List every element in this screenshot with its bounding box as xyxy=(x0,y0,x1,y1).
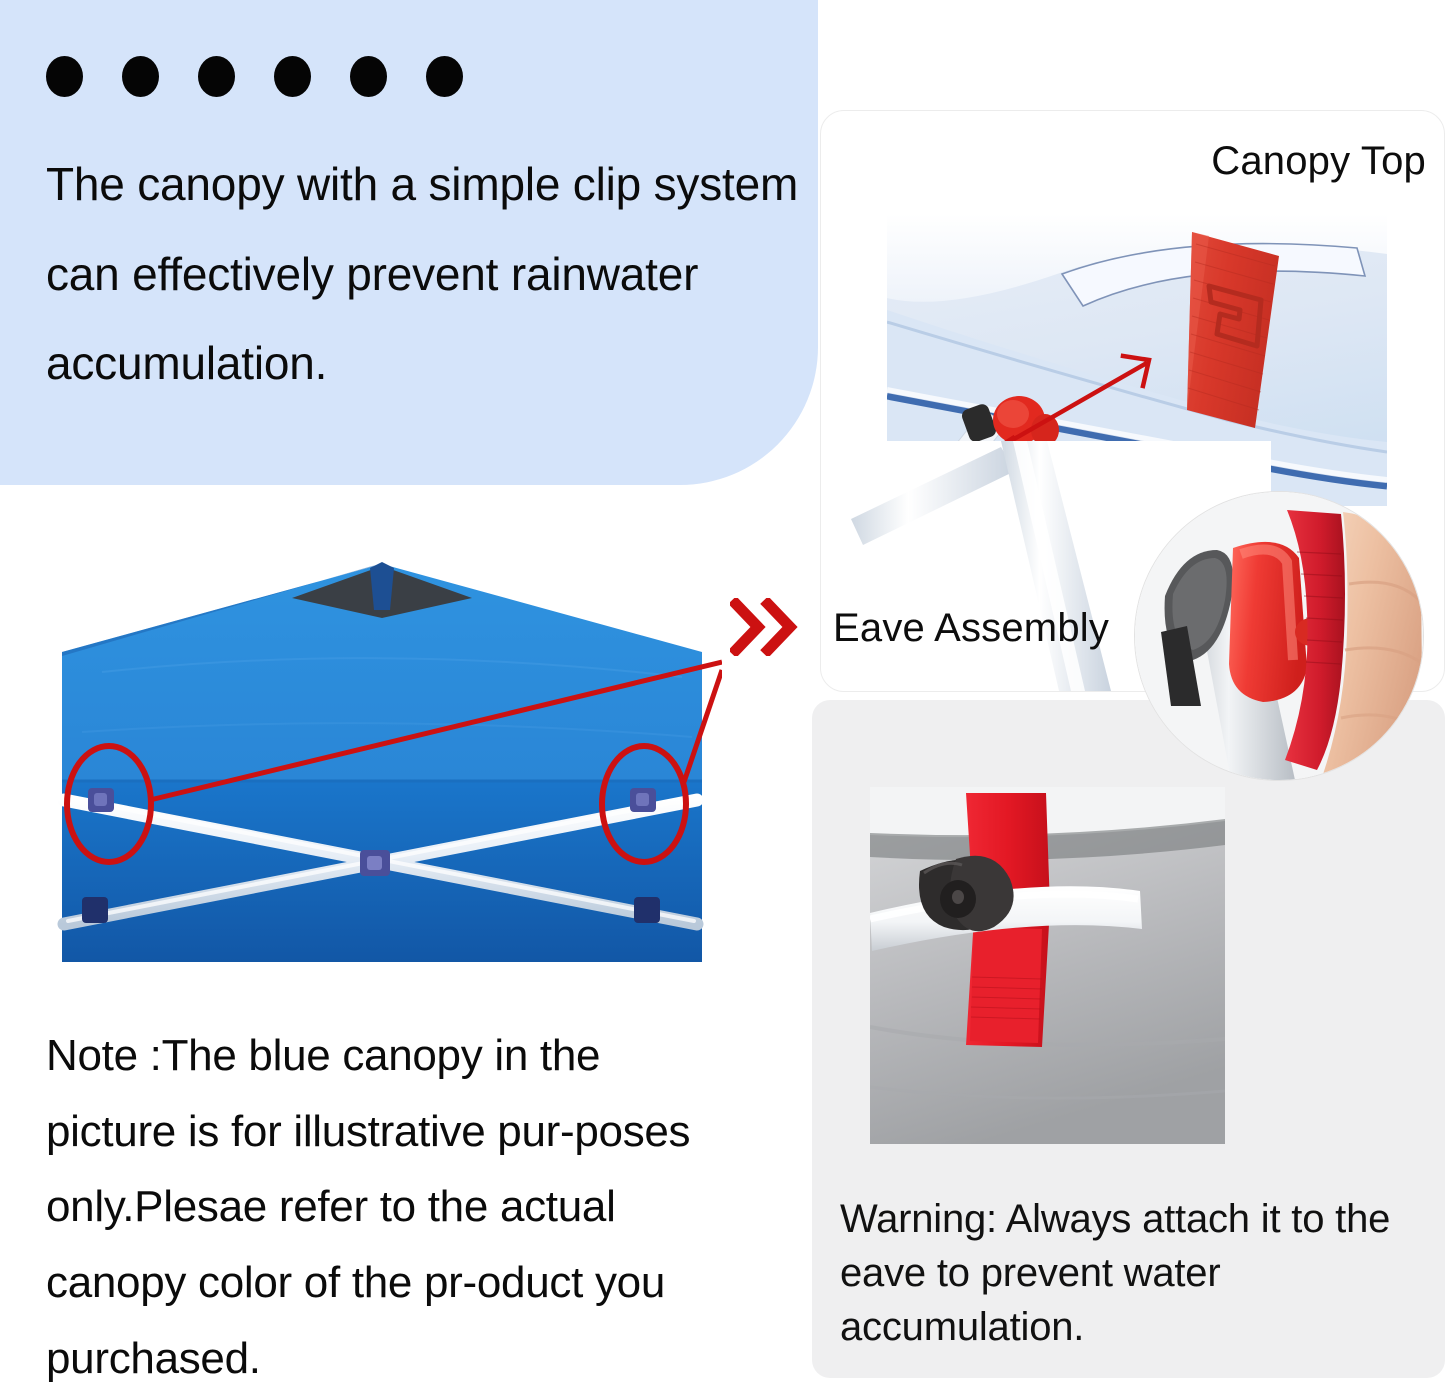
dot-row xyxy=(46,56,463,97)
double-chevron-right-icon xyxy=(730,598,800,656)
blue-callout-panel: The canopy with a simple clip system can… xyxy=(0,0,818,485)
infographic-page: The canopy with a simple clip system can… xyxy=(0,0,1445,1389)
illustrative-note-text: Note :The blue canopy in the picture is … xyxy=(46,1018,726,1396)
canopy-top-label: Canopy Top xyxy=(1211,139,1426,184)
hand-holding-clip-inset-photo xyxy=(1135,492,1423,780)
eave-strap-warning-photo xyxy=(870,787,1225,1144)
warning-card: Warning: Always attach it to the eave to… xyxy=(812,700,1445,1378)
bullet-dot-icon xyxy=(350,56,387,97)
bullet-dot-icon xyxy=(274,56,311,97)
eave-assembly-label: Eave Assembly xyxy=(833,606,1109,651)
bullet-dot-icon xyxy=(198,56,235,97)
warning-text: Warning: Always attach it to the eave to… xyxy=(840,1192,1400,1354)
bullet-dot-icon xyxy=(46,56,83,97)
bullet-dot-icon xyxy=(122,56,159,97)
bullet-dot-icon xyxy=(426,56,463,97)
headline-text: The canopy with a simple clip system can… xyxy=(46,140,816,409)
canopy-underside-photo xyxy=(42,552,722,962)
